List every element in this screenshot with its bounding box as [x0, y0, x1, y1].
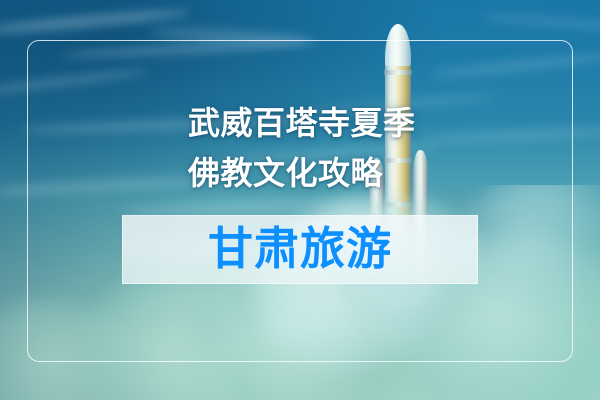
page-title-line-2: 佛教文化攻略 [188, 148, 518, 198]
rocket-band [384, 70, 412, 75]
rocket-nose-cone [385, 24, 411, 66]
page-title: 武威百塔寺夏季 佛教文化攻略 [188, 98, 518, 198]
page-title-line-1: 武威百塔寺夏季 [188, 98, 518, 148]
brand-banner-label: 甘肃旅游 [208, 226, 392, 273]
brand-banner: 甘肃旅游 [122, 215, 478, 284]
poster-canvas: 武威百塔寺夏季 佛教文化攻略 甘肃旅游 [0, 0, 600, 400]
